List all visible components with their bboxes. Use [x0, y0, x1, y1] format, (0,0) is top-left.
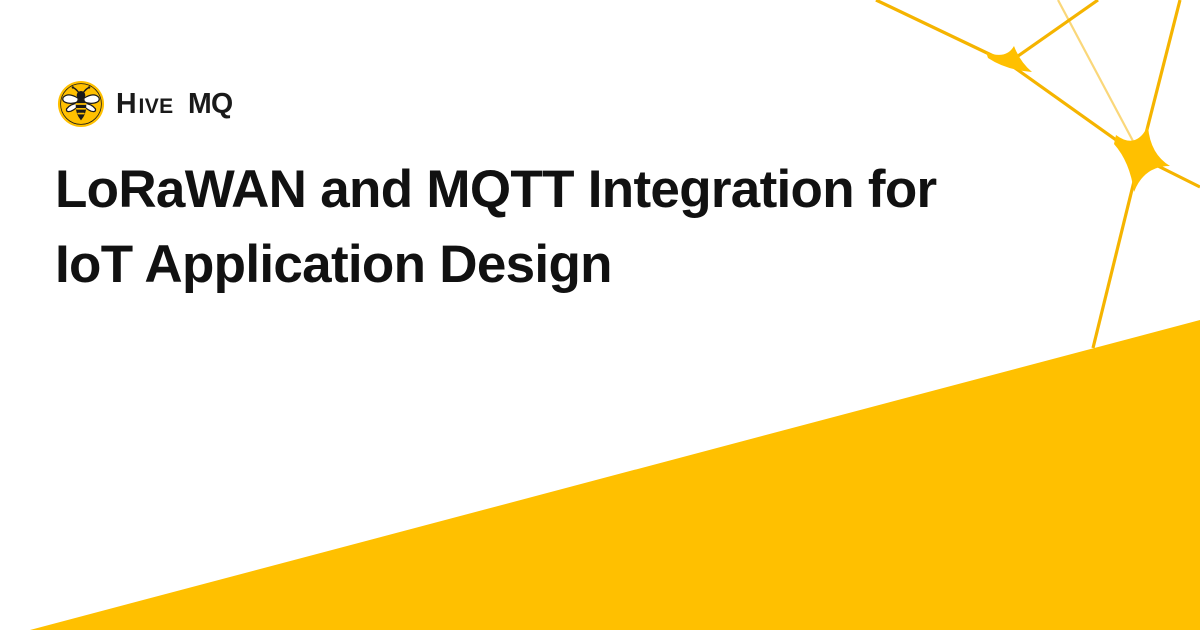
network-node-a [986, 46, 1032, 72]
bee-antenna-tip-left [72, 86, 74, 88]
wordmark-mq: MQ [188, 89, 232, 119]
hivemq-wordmark: H IVE MQ [116, 89, 296, 119]
wordmark-cap-h: H [116, 89, 136, 119]
network-line-faint [1058, 0, 1142, 158]
network-line-b-down [1093, 157, 1140, 348]
network-line-b-up [1140, 0, 1180, 157]
bee-antenna-tip-right [88, 86, 90, 88]
network-line-a-up [1008, 0, 1098, 63]
bee-head [77, 91, 86, 100]
network-line-a-in [876, 0, 1008, 63]
page-title: LoRaWAN and MQTT Integration for IoT App… [55, 152, 1015, 303]
wordmark-ive: IVE [139, 95, 174, 118]
wedge-shape [30, 320, 1200, 630]
network-node-b [1114, 126, 1170, 192]
network-line-a-b [1008, 63, 1140, 157]
hivemq-bee-logo-icon [57, 80, 105, 128]
social-share-card: H IVE MQ LoRaWAN and MQTT Integration fo… [0, 0, 1200, 630]
network-line-b-right [1140, 157, 1200, 187]
hivemq-logo[interactable]: H IVE MQ [57, 80, 296, 128]
